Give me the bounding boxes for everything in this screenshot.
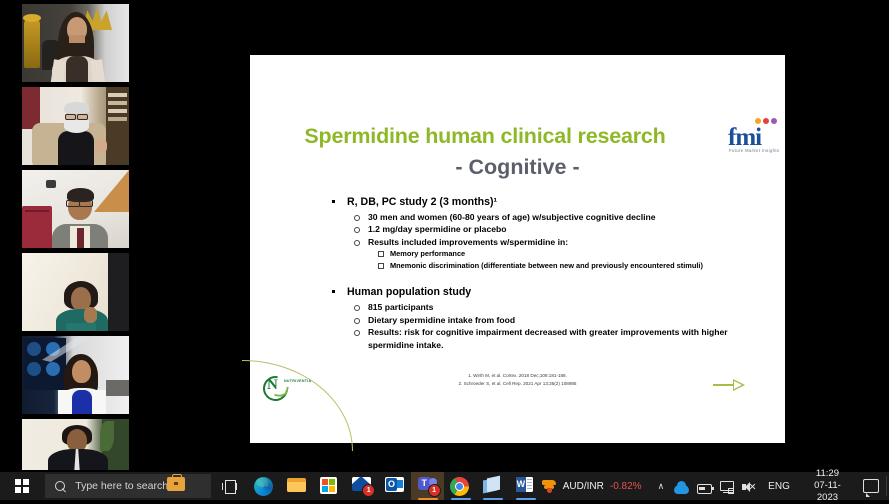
taskbar-app-sticky-notes[interactable]	[476, 472, 509, 500]
taskbar-app-microsoft-teams[interactable]: T 1	[411, 472, 444, 500]
microsoft-store-icon	[320, 477, 339, 496]
taskbar-app-microsoft-store[interactable]	[313, 472, 346, 500]
battery-icon[interactable]	[697, 484, 713, 494]
sticky-notes-icon	[483, 477, 502, 496]
ticker-symbol: AUD/INR	[563, 481, 604, 492]
task-view-icon	[222, 480, 237, 492]
bullet-marker	[332, 290, 335, 293]
clock[interactable]: 11:29 07-11-2023	[798, 468, 857, 504]
ticker-change: -0.82%	[610, 481, 642, 492]
bullet-marker-square	[378, 251, 384, 257]
chrome-icon	[450, 477, 469, 496]
teams-badge-count: 1	[428, 484, 441, 497]
reference-2: 2. Schroeder S, et al. Cell Rep. 2021 Ap…	[250, 380, 785, 388]
word-icon: W	[516, 477, 535, 496]
onedrive-cloud-icon[interactable]	[674, 485, 688, 494]
bullet-level2: 815 participants	[328, 301, 733, 313]
bullet-marker	[354, 305, 360, 311]
taskbar-app-google-chrome[interactable]	[444, 472, 477, 500]
participant-video-5	[22, 336, 129, 414]
bullet-marker	[354, 240, 360, 246]
bullet-marker	[354, 215, 360, 221]
participant-video-3	[22, 170, 129, 248]
mail-badge-count: 1	[362, 484, 375, 497]
outlook-icon: O	[385, 477, 404, 496]
bullet-text: R, DB, PC study 2 (3 months)¹	[347, 196, 497, 208]
fmi-logo-tagline: Future Market Insights	[729, 148, 779, 153]
search-icon	[55, 481, 66, 492]
bullet-level1: Human population study	[328, 285, 733, 299]
briefcase-icon	[167, 477, 185, 491]
participant-video-4	[22, 253, 129, 331]
participant-tile-1[interactable]	[0, 2, 151, 84]
fmi-logo: fmi Future Market Insights	[724, 117, 782, 159]
bullet-level2: Results: risk for cognitive impairment d…	[328, 326, 733, 351]
bullet-text: Mnemonic discrimination (differentiate b…	[390, 261, 703, 270]
bullet-marker	[354, 227, 360, 233]
desktop-screen: N NUTRIVENTIA Spermidine human clinical …	[0, 0, 889, 500]
taskbar-app-file-explorer[interactable]	[280, 472, 313, 500]
bullet-level3: Mnemonic discrimination (differentiate b…	[328, 260, 733, 272]
action-center-button[interactable]	[857, 472, 884, 500]
participant-tile-6[interactable]	[0, 417, 151, 472]
start-button[interactable]	[0, 472, 44, 500]
network-icon[interactable]	[720, 481, 734, 493]
bullet-text: Human population study	[347, 286, 471, 298]
show-hidden-icons-chevron-icon[interactable]: ∧	[652, 481, 671, 492]
slide-title-secondary: - Cognitive -	[250, 155, 785, 180]
participant-video-rail	[0, 0, 151, 472]
bullet-marker	[354, 318, 360, 324]
file-explorer-icon	[287, 477, 306, 496]
participant-tile-5[interactable]	[0, 334, 151, 416]
participant-video-2	[22, 87, 129, 165]
taskbar-app-microsoft-edge[interactable]	[247, 472, 280, 500]
taskbar-app-outlook[interactable]: O	[378, 472, 411, 500]
next-arrow-icon	[713, 379, 749, 391]
taskbar-app-microsoft-word[interactable]: W	[509, 472, 542, 500]
slide-title-primary: Spermidine human clinical research	[250, 124, 720, 149]
participant-video-1	[22, 4, 129, 82]
participant-tile-4[interactable]	[0, 251, 151, 333]
bullet-marker	[354, 330, 360, 336]
participant-tile-3[interactable]	[0, 168, 151, 250]
bullet-level2: Dietary spermidine intake from food	[328, 314, 733, 326]
participant-video-6	[22, 419, 129, 470]
bullet-level2: 30 men and women (60-80 years of age) w/…	[328, 211, 733, 223]
windows-logo-icon	[15, 479, 29, 493]
taskbar-app-mail[interactable]: 1	[345, 472, 378, 500]
bullet-text: Results: risk for cognitive impairment d…	[368, 327, 728, 349]
bullet-level1: R, DB, PC study 2 (3 months)¹	[328, 195, 733, 209]
show-desktop-divider[interactable]	[886, 476, 887, 496]
bullet-text: 1.2 mg/day spermidine or placebo	[368, 224, 507, 234]
system-tray: AUD/INR -0.82% ∧ ENG 11:29 07-11-2023	[542, 472, 889, 500]
windows-taskbar: Type here to search 1 O	[0, 472, 889, 500]
clock-date: 07-11-2023	[806, 480, 849, 504]
bullet-text: 30 men and women (60-80 years of age) w/…	[368, 212, 656, 222]
participant-tile-2[interactable]	[0, 85, 151, 167]
volume-muted-icon[interactable]	[742, 481, 756, 493]
bullet-text: 815 participants	[368, 302, 433, 312]
slide-body: R, DB, PC study 2 (3 months)¹ 30 men and…	[328, 195, 733, 351]
action-center-icon	[863, 479, 879, 493]
bullet-level2: 1.2 mg/day spermidine or placebo	[328, 223, 733, 235]
task-view-button[interactable]	[211, 472, 248, 500]
search-input[interactable]: Type here to search	[45, 474, 210, 498]
bullet-level3: Memory performance	[328, 248, 733, 260]
bullet-marker	[332, 200, 335, 203]
bullet-text: Results included improvements w/spermidi…	[368, 237, 568, 247]
reference-1: 1. Wirth M, et al. Cortex. 2018 Dec;109:…	[250, 372, 785, 380]
ticker-bird-icon	[542, 479, 557, 493]
bullet-text: Dietary spermidine intake from food	[368, 315, 515, 325]
stock-ticker-widget[interactable]: AUD/INR -0.82%	[542, 479, 652, 493]
slide-references: 1. Wirth M, et al. Cortex. 2018 Dec;109:…	[250, 372, 785, 387]
edge-icon	[254, 477, 273, 496]
bullet-marker-square	[378, 263, 384, 269]
search-placeholder-text: Type here to search	[75, 480, 168, 492]
bullet-text: Memory performance	[390, 249, 465, 258]
bullet-level2: Results included improvements w/spermidi…	[328, 236, 733, 248]
language-indicator[interactable]: ENG	[760, 481, 798, 492]
shared-slide[interactable]: N NUTRIVENTIA Spermidine human clinical …	[250, 55, 785, 443]
clock-time: 11:29	[806, 468, 849, 480]
